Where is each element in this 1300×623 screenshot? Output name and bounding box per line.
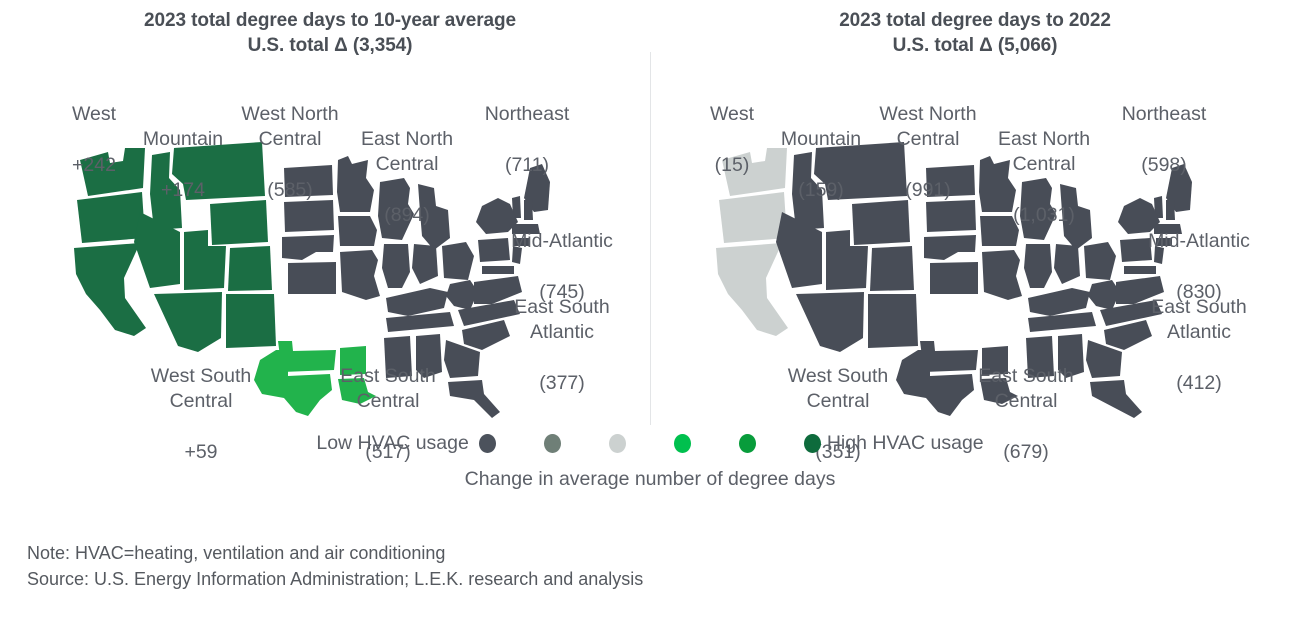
region-name: East North Central [978,127,1110,178]
panel-title-right: 2023 total degree days to 2022 U.S. tota… [705,8,1245,58]
panel-title-left: 2023 total degree days to 10-year averag… [60,8,600,58]
region-name: West North Central [222,102,358,153]
state-west-virginia [446,280,478,310]
region-value: (412) [1130,371,1268,397]
region-label-east-south-atlantic-right: East South Atlantic (412) [1130,269,1268,422]
region-name: East South Atlantic [1130,295,1268,346]
region-label-west-north-central-right: West North Central (991) [860,76,996,229]
legend-high-label: High HVAC usage [827,432,984,455]
state-tennessee [1028,312,1096,332]
region-name: West South Central [128,364,274,415]
legend-swatch-5[interactable] [739,434,756,453]
state-california [716,243,788,336]
state-kentucky [1028,288,1090,316]
legend-swatch-1[interactable] [479,434,496,453]
region-value: (598) [1098,153,1230,179]
state-kansas [930,262,978,294]
legend-swatch-2[interactable] [544,434,561,453]
region-name: Northeast [461,102,593,128]
legend-low-label: Low HVAC usage [316,432,468,455]
footer-source: Source: U.S. Energy Information Administ… [27,566,643,592]
region-value: (991) [860,178,996,204]
panel-title-left-line1: 2023 total degree days to 10-year averag… [60,8,600,33]
legend-swatch-6[interactable] [804,434,821,453]
region-name: West South Central [765,364,911,415]
footer-note: Note: HVAC=heating, ventilation and air … [27,540,643,566]
state-missouri [340,250,380,300]
panel-title-right-line1: 2023 total degree days to 2022 [705,8,1245,33]
state-nebraska [924,235,976,260]
region-label-east-south-atlantic-left: East South Atlantic (377) [493,269,631,422]
state-colorado [870,246,914,291]
region-name: East South Atlantic [493,295,631,346]
region-label-east-north-central-right: East North Central (1,031) [978,101,1110,254]
region-value: (1,031) [978,203,1110,229]
state-tennessee [386,312,454,332]
region-name: Northeast [1098,102,1230,128]
region-label-east-north-central-left: East North Central (894) [341,101,473,254]
state-california [74,243,146,336]
region-name: East North Central [341,127,473,178]
legend: Low HVAC usage High HVAC usage [0,432,1300,455]
region-name: East South Central [318,364,458,415]
region-label-west-north-central-left: West North Central (585) [222,76,358,229]
state-kansas [288,262,336,294]
region-name: East South Central [956,364,1096,415]
legend-swatch-3[interactable] [609,434,626,453]
state-colorado [228,246,272,291]
footer-notes: Note: HVAC=heating, ventilation and air … [27,540,643,592]
state-kentucky [386,288,448,316]
region-value: (585) [222,178,358,204]
region-value: (711) [461,153,593,179]
region-name: West North Central [860,102,996,153]
state-nebraska [282,235,334,260]
region-name: Mid-Atlantic [1130,229,1268,255]
legend-caption: Change in average number of degree days [0,468,1300,491]
panel-divider [650,52,651,425]
legend-swatch-4[interactable] [674,434,691,453]
state-west-virginia [1088,280,1120,310]
region-value: (894) [341,203,473,229]
state-missouri [982,250,1022,300]
panel-title-right-line2: U.S. total Δ (5,066) [705,33,1245,58]
legend-swatches [479,434,821,453]
panel-title-left-line2: U.S. total Δ (3,354) [60,33,600,58]
region-label-northeast-left: Northeast (711) [461,76,593,204]
region-value: (377) [493,371,631,397]
region-label-northeast-right: Northeast (598) [1098,76,1230,204]
region-name: Mid-Atlantic [493,229,631,255]
